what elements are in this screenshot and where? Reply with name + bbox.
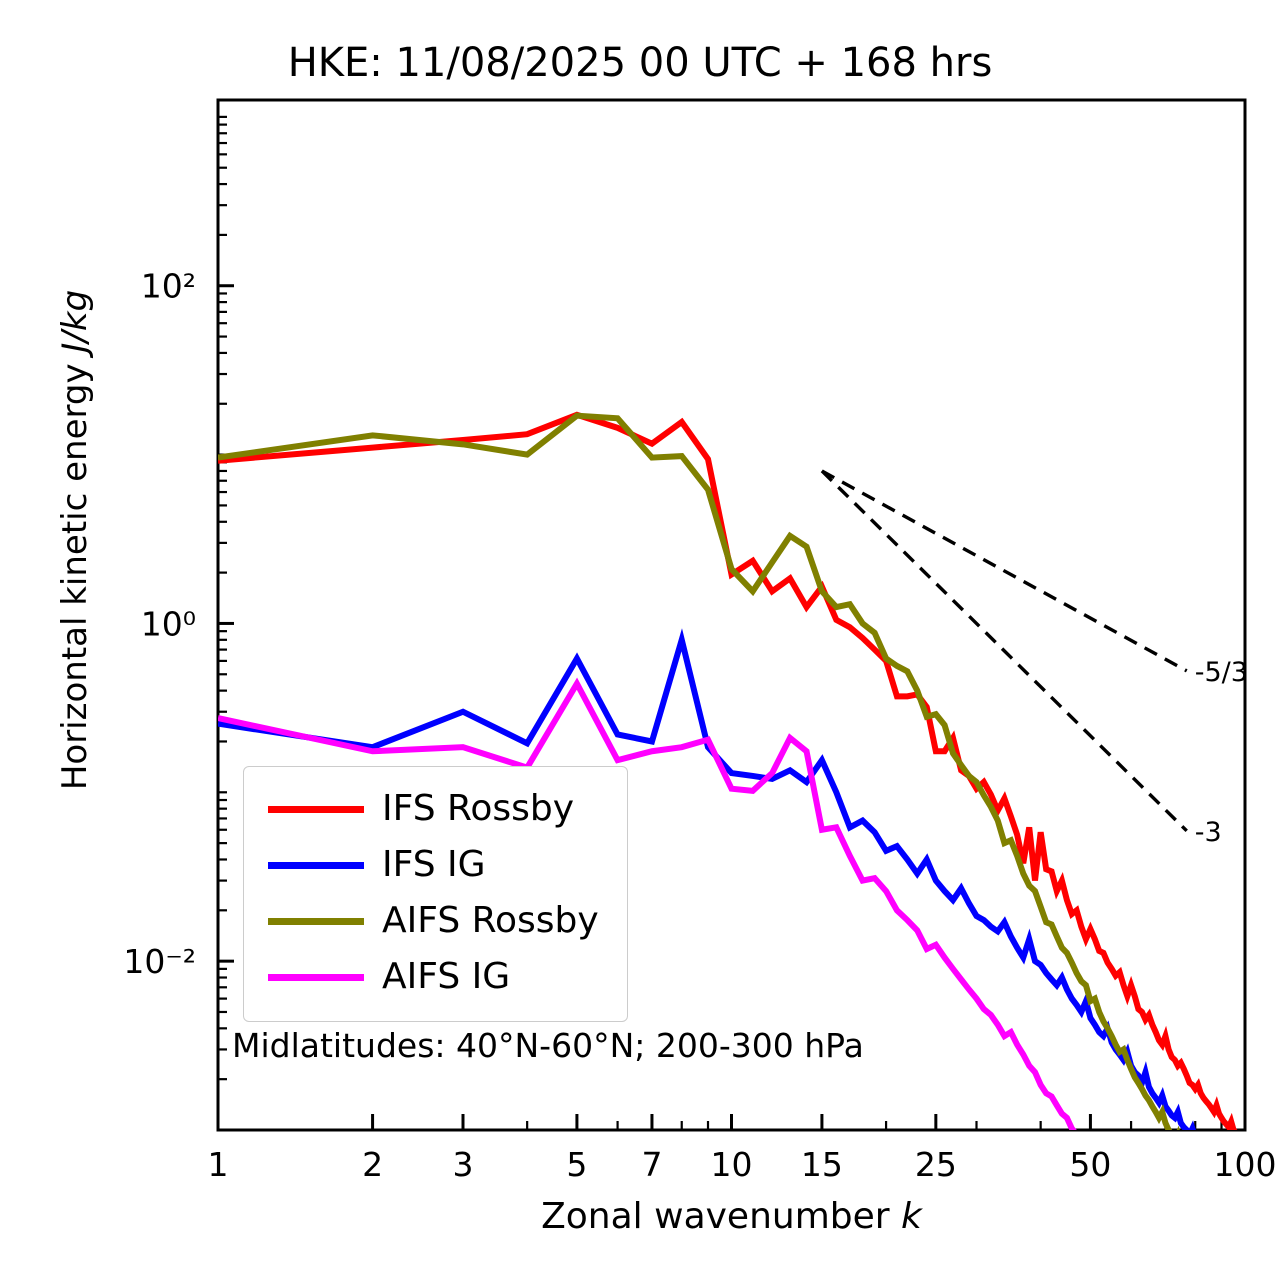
x-tick-label: 15 bbox=[801, 1145, 843, 1184]
x-tick-label: 50 bbox=[1069, 1145, 1111, 1184]
y-tick-label: 10⁻² bbox=[123, 942, 196, 981]
x-tick-label: 3 bbox=[453, 1145, 474, 1184]
legend-item[interactable]: AIFS IG bbox=[254, 949, 617, 1005]
chart-figure: HKE: 11/08/2025 00 UTC + 168 hrs Horizon… bbox=[0, 0, 1280, 1288]
legend-item[interactable]: IFS IG bbox=[254, 837, 617, 893]
legend-item[interactable]: IFS Rossby bbox=[254, 781, 617, 837]
y-tick-label: 10⁰ bbox=[141, 604, 196, 643]
x-tick-label: 100 bbox=[1214, 1145, 1277, 1184]
x-axis-label-text: Zonal wavenumber bbox=[541, 1196, 901, 1237]
x-axis-label: Zonal wavenumber k bbox=[218, 1196, 1245, 1237]
legend-item[interactable]: AIFS Rossby bbox=[254, 893, 617, 949]
x-tick-label: 25 bbox=[915, 1145, 957, 1184]
legend-label: IFS Rossby bbox=[382, 791, 574, 827]
legend-label: IFS IG bbox=[382, 847, 486, 883]
legend-swatch-ifs-ig bbox=[268, 862, 364, 869]
x-tick-label: 10 bbox=[711, 1145, 753, 1184]
legend-swatch-ifs-rossby bbox=[268, 806, 364, 813]
reference-line-label: -3 bbox=[1195, 817, 1222, 848]
region-annotation: Midlatitudes: 40°N-60°N; 200-300 hPa bbox=[232, 1026, 864, 1065]
legend-label: AIFS IG bbox=[382, 959, 510, 995]
x-tick-label: 7 bbox=[641, 1145, 662, 1184]
y-tick-label: 10² bbox=[141, 267, 196, 306]
plot-area: 1235710152550100 10²10⁰10⁻² -5/3-3 bbox=[0, 0, 1280, 1288]
legend: IFS Rossby IFS IG AIFS Rossby AIFS IG bbox=[243, 766, 628, 1022]
reference-line-label: -5/3 bbox=[1195, 657, 1248, 688]
x-tick-label: 2 bbox=[362, 1145, 383, 1184]
x-axis-ticks: 1235710152550100 bbox=[208, 1114, 1277, 1184]
x-tick-label: 5 bbox=[566, 1145, 587, 1184]
x-tick-label: 1 bbox=[208, 1145, 229, 1184]
x-axis-label-var: k bbox=[901, 1196, 922, 1237]
legend-swatch-aifs-rossby bbox=[268, 918, 364, 925]
legend-swatch-aifs-ig bbox=[268, 974, 364, 981]
legend-label: AIFS Rossby bbox=[382, 903, 599, 939]
